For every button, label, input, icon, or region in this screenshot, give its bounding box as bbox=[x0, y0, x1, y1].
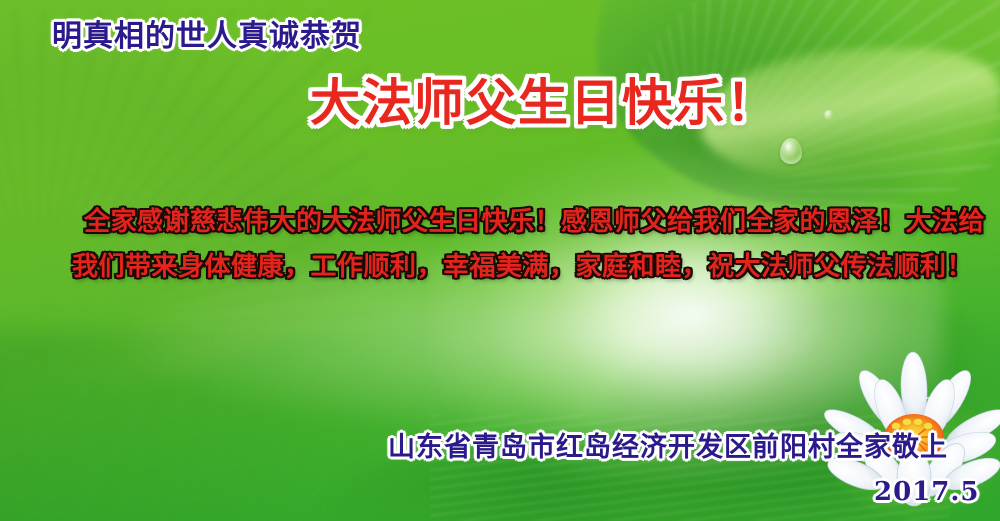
page-title: 大法师父生日快乐！ bbox=[310, 78, 778, 128]
signature-text: 山东省青岛市红岛经济开发区前阳村全家敬上 bbox=[388, 434, 948, 461]
background-shade-bottom-left bbox=[0, 330, 520, 521]
message-line-2: 我们带来身体健康，工作顺利，幸福美满，家庭和睦，祝大法师父传法顺利！ bbox=[72, 254, 973, 280]
background-glow-center bbox=[430, 150, 950, 480]
background-sheen bbox=[430, 415, 950, 521]
greeting-card: 明真相的世人真诚恭贺 大法师父生日快乐！ 全家感谢慈悲伟大的大法师父生日快乐！感… bbox=[0, 0, 1000, 521]
lotus-leaf-left-veins-icon bbox=[0, 10, 370, 340]
message-line-1: 全家感谢慈悲伟大的大法师父生日快乐！感恩师父给我们全家的恩泽！大法给 bbox=[84, 209, 985, 235]
lotus-leaf-left-icon bbox=[0, 0, 414, 398]
water-droplet-icon bbox=[780, 138, 802, 164]
date-text: 2017.5 bbox=[874, 479, 980, 505]
greeting-header-text: 明真相的世人真诚恭贺 bbox=[52, 22, 362, 52]
water-droplet-small-icon bbox=[824, 110, 834, 121]
